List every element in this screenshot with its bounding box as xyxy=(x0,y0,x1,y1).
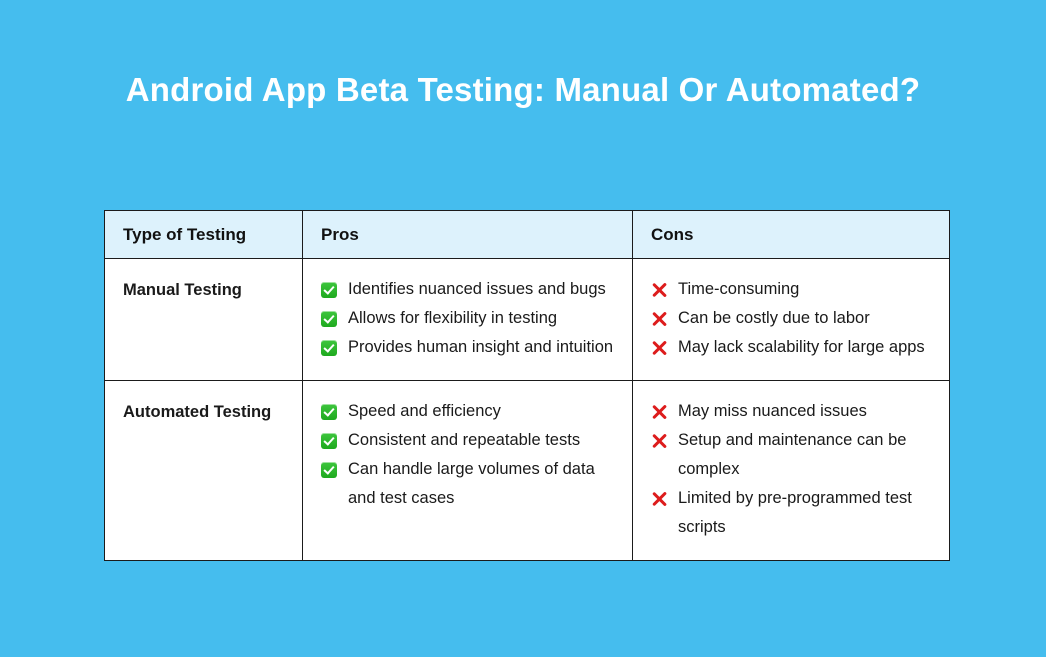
list-item: Identifies nuanced issues and bugs xyxy=(321,275,614,304)
cell-manual-pros: Identifies nuanced issues and bugs Allow… xyxy=(303,259,633,381)
table-row: Manual Testing Identifies nuanced issues… xyxy=(105,259,950,381)
list-item-text: Can be costly due to labor xyxy=(678,309,870,327)
list-item: Can handle large volumes of data and tes… xyxy=(321,455,614,513)
cons-list-automated: May miss nuanced issues Setup and mainte… xyxy=(651,397,931,542)
check-mark-icon xyxy=(321,282,337,298)
pros-list-manual: Identifies nuanced issues and bugs Allow… xyxy=(321,275,614,362)
list-item: Allows for flexibility in testing xyxy=(321,304,614,333)
list-item: May miss nuanced issues xyxy=(651,397,931,426)
cross-mark-icon xyxy=(651,311,667,327)
list-item-text: May lack scalability for large apps xyxy=(678,338,925,356)
list-item: Limited by pre-programmed test scripts xyxy=(651,484,931,542)
testing-comparison-table: Type of Testing Pros Cons Manual Testing… xyxy=(104,210,950,561)
list-item-text: Consistent and repeatable tests xyxy=(348,431,580,449)
table-header: Type of Testing Pros Cons xyxy=(105,211,950,259)
cross-mark-icon xyxy=(651,433,667,449)
check-mark-icon xyxy=(321,404,337,420)
list-item: Speed and efficiency xyxy=(321,397,614,426)
list-item: Time-consuming xyxy=(651,275,931,304)
row-label-manual-testing: Manual Testing xyxy=(105,259,303,381)
cell-manual-cons: Time-consuming Can be costly due to labo… xyxy=(633,259,950,381)
list-item-text: Limited by pre-programmed test scripts xyxy=(678,489,912,536)
list-item-text: Setup and maintenance can be complex xyxy=(678,431,906,478)
check-mark-icon xyxy=(321,433,337,449)
cross-mark-icon xyxy=(651,282,667,298)
row-label-automated-testing: Automated Testing xyxy=(105,381,303,561)
cross-mark-icon xyxy=(651,340,667,356)
cross-mark-icon xyxy=(651,404,667,420)
check-mark-icon xyxy=(321,340,337,356)
list-item: Can be costly due to labor xyxy=(651,304,931,333)
list-item: Setup and maintenance can be complex xyxy=(651,426,931,484)
pros-list-automated: Speed and efficiency Consistent and repe… xyxy=(321,397,614,513)
check-mark-icon xyxy=(321,462,337,478)
list-item-text: Speed and efficiency xyxy=(348,402,501,420)
cell-automated-cons: May miss nuanced issues Setup and mainte… xyxy=(633,381,950,561)
column-header-cons: Cons xyxy=(633,211,950,259)
list-item-text: Can handle large volumes of data and tes… xyxy=(348,460,595,507)
list-item-text: Identifies nuanced issues and bugs xyxy=(348,280,606,298)
list-item-text: Time-consuming xyxy=(678,280,799,298)
list-item: May lack scalability for large apps xyxy=(651,333,931,362)
cross-mark-icon xyxy=(651,491,667,507)
table-row: Automated Testing Speed and efficiency C… xyxy=(105,381,950,561)
cell-automated-pros: Speed and efficiency Consistent and repe… xyxy=(303,381,633,561)
list-item: Provides human insight and intuition xyxy=(321,333,614,362)
page-title: Android App Beta Testing: Manual Or Auto… xyxy=(0,66,1046,113)
column-header-pros: Pros xyxy=(303,211,633,259)
list-item-text: Provides human insight and intuition xyxy=(348,338,613,356)
check-mark-icon xyxy=(321,311,337,327)
list-item-text: Allows for flexibility in testing xyxy=(348,309,557,327)
list-item-text: May miss nuanced issues xyxy=(678,402,867,420)
list-item: Consistent and repeatable tests xyxy=(321,426,614,455)
table-body: Manual Testing Identifies nuanced issues… xyxy=(105,259,950,561)
cons-list-manual: Time-consuming Can be costly due to labo… xyxy=(651,275,931,362)
column-header-type-of-testing: Type of Testing xyxy=(105,211,303,259)
table-header-row: Type of Testing Pros Cons xyxy=(105,211,950,259)
